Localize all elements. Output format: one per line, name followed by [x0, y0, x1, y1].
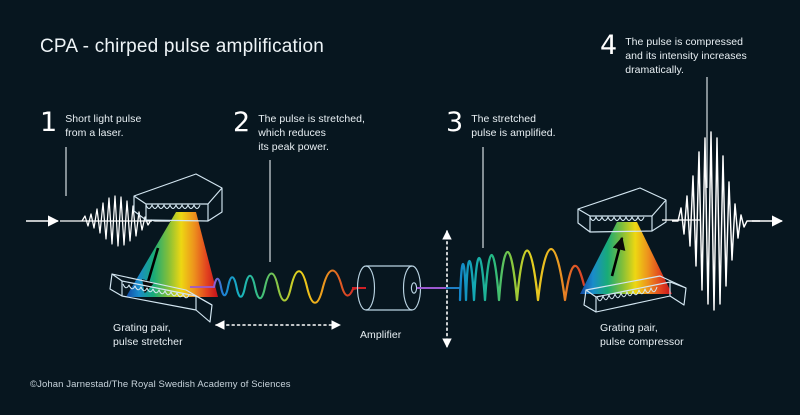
step-1: 1 Short light pulse from a laser.	[40, 110, 141, 141]
amplifier-group	[352, 266, 446, 310]
amplified-pulse-wave	[460, 249, 596, 300]
step-1-text: Short light pulse from a laser.	[65, 110, 141, 141]
step-4-text: The pulse is compressed and its intensit…	[625, 33, 747, 78]
step-2-number: 2	[233, 110, 250, 136]
output-pulse-group	[672, 132, 782, 310]
stretched-pulse-wave	[214, 271, 358, 303]
diagram-canvas: CPA - chirped pulse amplification	[0, 0, 800, 415]
step-2: 2 The pulse is stretched, which reduces …	[233, 110, 365, 155]
amplified-pulse-group	[446, 249, 596, 300]
step-3-number: 3	[446, 110, 463, 136]
step-1-number: 1	[40, 110, 57, 136]
step-3: 3 The stretched pulse is amplified.	[446, 110, 556, 141]
compressor-group	[578, 188, 700, 312]
compressor-spectrum-fan	[580, 222, 672, 294]
step-2-text: The pulse is stretched, which reduces it…	[258, 110, 365, 155]
step-4-number: 4	[600, 33, 617, 59]
caption-stretcher: Grating pair, pulse stretcher	[113, 322, 183, 350]
credit-line: ©Johan Jarnestad/The Royal Swedish Acade…	[30, 379, 291, 390]
output-pulse-wave	[672, 132, 760, 310]
step-3-text: The stretched pulse is amplified.	[471, 110, 555, 141]
amplifier-aperture	[411, 283, 416, 293]
caption-compressor: Grating pair, pulse compressor	[600, 322, 684, 350]
caption-amplifier: Amplifier	[360, 329, 401, 343]
stretcher-group	[82, 174, 222, 322]
step-4: 4 The pulse is compressed and its intens…	[600, 33, 747, 78]
